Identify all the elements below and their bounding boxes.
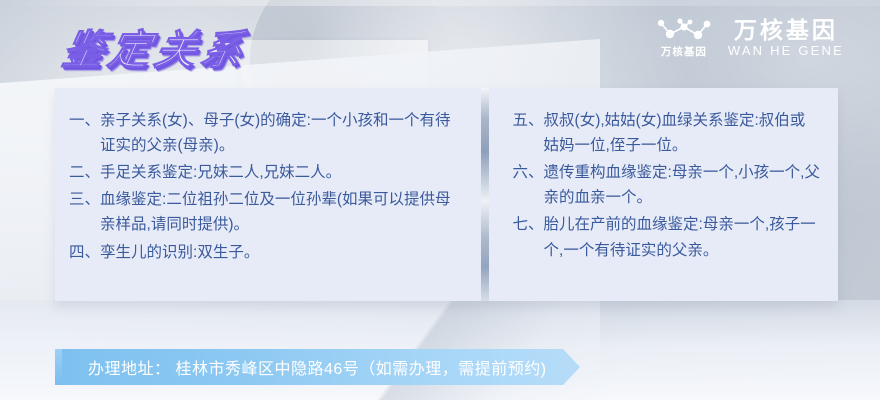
molecule-network-icon — [656, 18, 712, 44]
list-item: 一、 亲子关系(女)、母子(女)的确定:一个小孩和一个有待证实的父亲(母亲)。 — [69, 108, 463, 158]
logo-mark-label: 万核基因 — [661, 47, 707, 58]
list-item: 七、 胎儿在产前的血缘鉴定:母亲一个,孩子一个,一个有待证实的父亲。 — [513, 212, 820, 262]
list-item-number: 三、 — [69, 187, 100, 212]
list-item-text: 血缘鉴定:二位祖孙二位及一位孙辈(如果可以提供母亲样品,请同时提供)。 — [100, 187, 463, 237]
list-item-number: 二、 — [69, 160, 100, 185]
column-divider — [481, 88, 489, 301]
left-column: 一、 亲子关系(女)、母子(女)的确定:一个小孩和一个有待证实的父亲(母亲)。 … — [55, 88, 481, 301]
address-banner-arrow-icon — [563, 349, 580, 385]
logo-wordmark: 万核基因 WAN HE GENE — [728, 18, 844, 57]
brand-logo: 万核基因 万核基因 WAN HE GENE — [656, 18, 844, 58]
list-item-text: 胎儿在产前的血缘鉴定:母亲一个,孩子一个,一个有待证实的父亲。 — [544, 212, 820, 262]
address-banner-left-cap — [55, 349, 62, 385]
list-item-number: 四、 — [69, 240, 100, 265]
list-item-number: 七、 — [513, 212, 544, 237]
list-item: 四、 孪生儿的识别:双生子。 — [69, 240, 463, 265]
list-item-text: 叔叔(女),姑姑(女)血绿关系鉴定:叔伯或姑妈一位,侄子一位。 — [544, 108, 820, 158]
logo-mark: 万核基因 — [656, 18, 712, 58]
list-item-number: 六、 — [513, 160, 544, 185]
address-text: 办理地址： 桂林市秀峰区中隐路46号（如需办理，需提前预约) — [62, 349, 563, 385]
content-panel: 一、 亲子关系(女)、母子(女)的确定:一个小孩和一个有待证实的父亲(母亲)。 … — [55, 88, 838, 301]
list-item: 五、 叔叔(女),姑姑(女)血绿关系鉴定:叔伯或姑妈一位,侄子一位。 — [513, 108, 820, 158]
right-item-list: 五、 叔叔(女),姑姑(女)血绿关系鉴定:叔伯或姑妈一位,侄子一位。 六、 遗传… — [513, 108, 820, 263]
list-item-number: 一、 — [69, 108, 100, 133]
address-banner: 办理地址： 桂林市秀峰区中隐路46号（如需办理，需提前预约) — [55, 349, 580, 385]
list-item: 三、 血缘鉴定:二位祖孙二位及一位孙辈(如果可以提供母亲样品,请同时提供)。 — [69, 187, 463, 237]
list-item-text: 亲子关系(女)、母子(女)的确定:一个小孩和一个有待证实的父亲(母亲)。 — [100, 108, 463, 158]
left-item-list: 一、 亲子关系(女)、母子(女)的确定:一个小孩和一个有待证实的父亲(母亲)。 … — [69, 108, 463, 265]
right-column: 五、 叔叔(女),姑姑(女)血绿关系鉴定:叔伯或姑妈一位,侄子一位。 六、 遗传… — [489, 88, 838, 301]
list-item-text: 遗传重构血缘鉴定:母亲一个,小孩一个,父亲的血亲一个。 — [544, 160, 820, 210]
page-title: 鉴定关系 — [58, 16, 254, 76]
brand-name-en: WAN HE GENE — [728, 44, 844, 57]
brand-name-cn: 万核基因 — [734, 18, 838, 42]
poster-canvas: 鉴定关系 — [0, 0, 880, 400]
list-item-text: 孪生儿的识别:双生子。 — [100, 240, 463, 265]
list-item-number: 五、 — [513, 108, 544, 133]
list-item: 二、 手足关系鉴定:兄妹二人,兄妹二人。 — [69, 160, 463, 185]
background-top-strip — [0, 0, 880, 6]
list-item-text: 手足关系鉴定:兄妹二人,兄妹二人。 — [100, 160, 463, 185]
list-item: 六、 遗传重构血缘鉴定:母亲一个,小孩一个,父亲的血亲一个。 — [513, 160, 820, 210]
